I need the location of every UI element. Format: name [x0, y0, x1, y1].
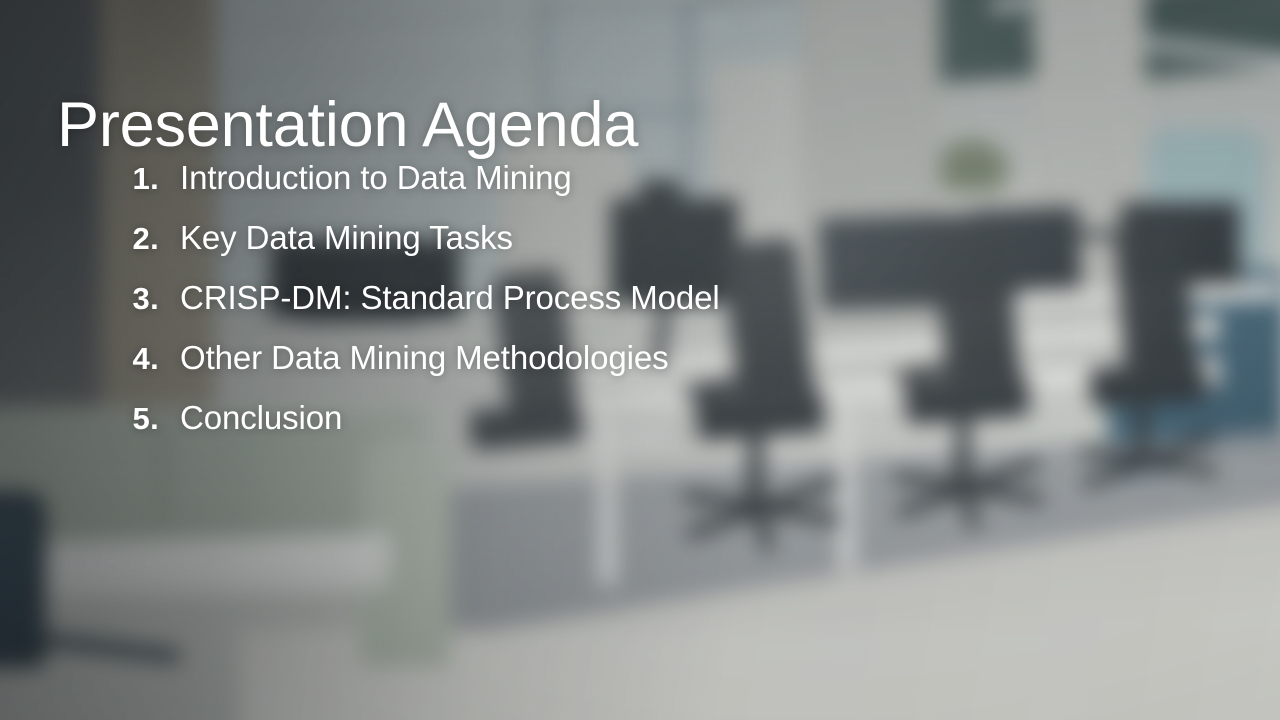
- agenda-item-1: 1. Introduction to Data Mining: [97, 159, 997, 219]
- agenda-item-number: 2.: [97, 221, 159, 257]
- agenda-item-2: 2. Key Data Mining Tasks: [97, 219, 997, 279]
- slide-title: Presentation Agenda: [57, 94, 638, 157]
- agenda-item-label: Key Data Mining Tasks: [180, 219, 513, 257]
- agenda-item-number: 4.: [97, 341, 159, 377]
- agenda-list: 1. Introduction to Data Mining 2. Key Da…: [57, 159, 997, 459]
- agenda-item-label: Introduction to Data Mining: [180, 159, 572, 197]
- agenda-item-number: 3.: [97, 281, 159, 317]
- agenda-item-4: 4. Other Data Mining Methodologies: [97, 339, 997, 399]
- slide-content: Presentation Agenda 1. Introduction to D…: [0, 0, 1280, 720]
- agenda-item-number: 1.: [97, 161, 159, 197]
- agenda-item-5: 5. Conclusion: [97, 399, 997, 459]
- agenda-item-label: CRISP-DM: Standard Process Model: [180, 279, 720, 317]
- agenda-item-3: 3. CRISP-DM: Standard Process Model: [97, 279, 997, 339]
- presentation-slide: Presentation Agenda 1. Introduction to D…: [0, 0, 1280, 720]
- agenda-item-label: Conclusion: [180, 399, 342, 437]
- agenda-item-label: Other Data Mining Methodologies: [180, 339, 669, 377]
- agenda-item-number: 5.: [97, 401, 159, 437]
